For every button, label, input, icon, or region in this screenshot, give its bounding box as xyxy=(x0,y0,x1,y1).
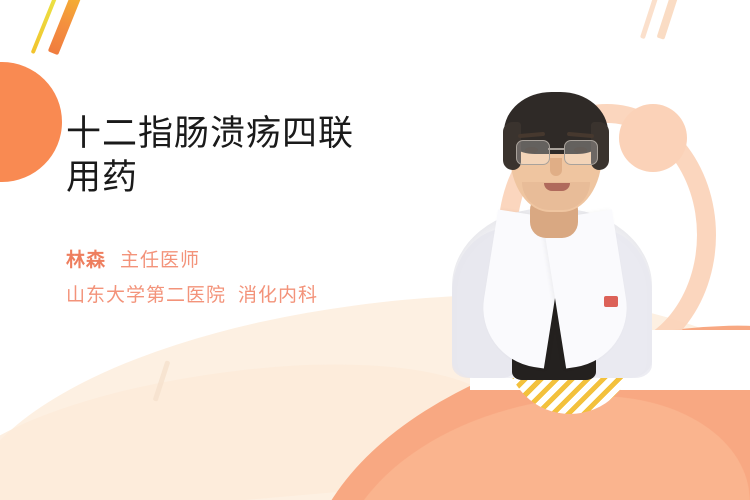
doctor-portrait xyxy=(438,78,688,378)
doctor-video-title-card: 十二指肠溃疡四联用药 林森主任医师 山东大学第二医院消化内科 xyxy=(0,0,750,500)
glasses-lens-icon xyxy=(516,140,550,165)
peach-stripe-icon xyxy=(657,0,684,40)
doctor-name: 林森 xyxy=(66,250,106,271)
orange-stripe-icon xyxy=(48,0,87,55)
glasses-bridge-icon xyxy=(548,148,564,150)
page-title-line-2: 用药 xyxy=(66,158,138,197)
page-title: 十二指肠溃疡四联用药 xyxy=(66,112,426,200)
doctor-affiliation-row: 山东大学第二医院消化内科 xyxy=(66,282,426,310)
mouth xyxy=(544,183,570,191)
orange-circle-icon xyxy=(0,62,62,182)
nose xyxy=(550,158,562,176)
cream-wave-sliver xyxy=(0,348,505,500)
doctor-hospital: 山东大学第二医院 xyxy=(66,285,226,306)
doctor-name-row: 林森主任医师 xyxy=(66,246,426,276)
doctor-title: 主任医师 xyxy=(120,250,200,271)
faint-stripe-icon xyxy=(153,360,171,401)
page-title-line-1: 十二指肠溃疡四联 xyxy=(66,114,354,153)
doctor-department: 消化内科 xyxy=(238,285,318,306)
glasses-lens-icon xyxy=(564,140,598,165)
hospital-badge-icon xyxy=(604,296,618,307)
title-text-block: 十二指肠溃疡四联用药 林森主任医师 山东大学第二医院消化内科 xyxy=(66,112,426,310)
